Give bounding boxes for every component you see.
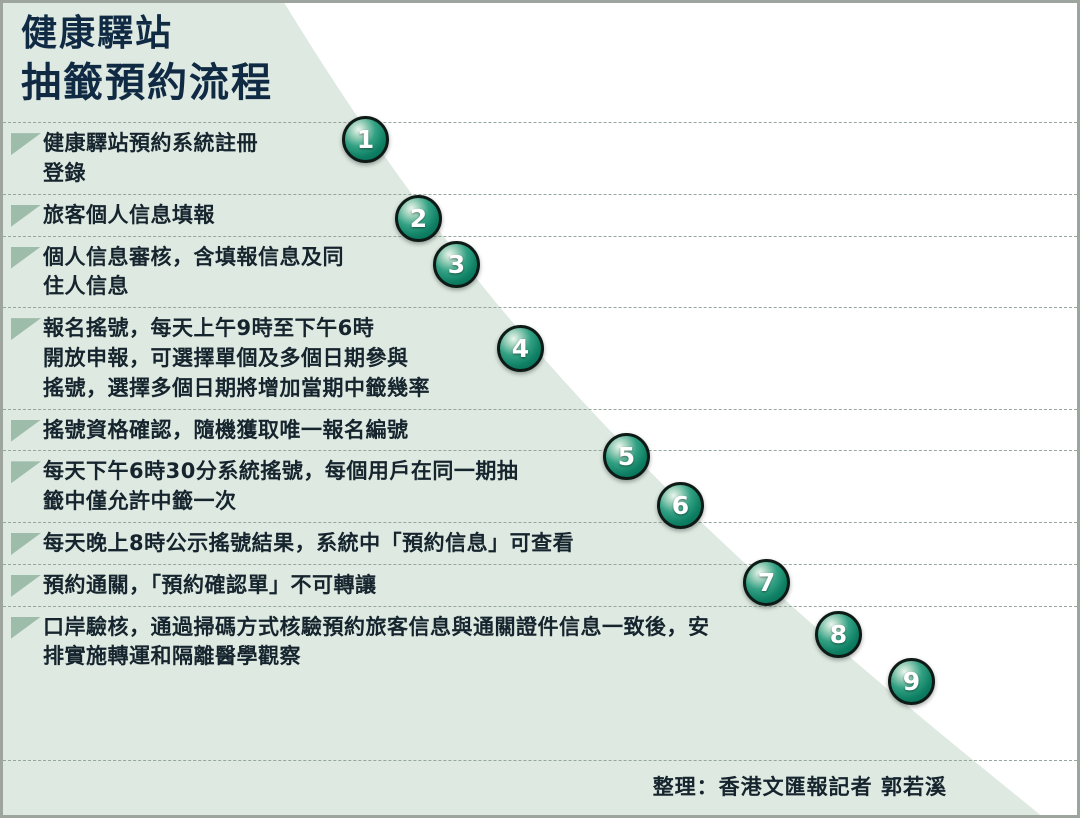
triangle-bullet-icon	[11, 420, 41, 442]
step-text-6: 每天下午6時30分系統搖號，每個用戶在同一期抽 籤中僅允許中籤一次	[43, 456, 518, 517]
step-badge-1: 1	[342, 116, 389, 163]
step-text-2: 旅客個人信息填報	[43, 200, 215, 231]
step-row-7: 每天晚上8時公示搖號結果，系統中「預約信息」可查看	[3, 522, 1077, 564]
step-badge-5: 5	[603, 433, 650, 480]
triangle-bullet-icon	[11, 133, 41, 155]
step-text-7: 每天晚上8時公示搖號結果，系統中「預約信息」可查看	[43, 528, 574, 559]
triangle-bullet-icon	[11, 533, 41, 555]
step-badge-3: 3	[433, 241, 480, 288]
title-line-2: 抽籤預約流程	[21, 61, 1077, 106]
triangle-bullet-icon	[11, 461, 41, 483]
title-line-1: 健康驛站	[21, 13, 1077, 53]
step-badge-9: 9	[888, 658, 935, 705]
triangle-bullet-icon	[11, 617, 41, 639]
poster-title: 健康驛站 抽籤預約流程	[3, 3, 1077, 110]
steps-list: 健康驛站預約系統註冊 登錄 旅客個人信息填報 個人信息審核，含填	[3, 122, 1077, 677]
step-badge-6: 6	[657, 482, 704, 529]
step-text-9: 口岸驗核，通過掃碼方式核驗預約旅客信息與通關證件信息一致後，安 排實施轉運和隔離…	[43, 612, 710, 673]
step-badge-8: 8	[815, 611, 862, 658]
step-text-1: 健康驛站預約系統註冊 登錄	[43, 128, 258, 189]
step-badge-2: 2	[395, 195, 442, 242]
step-text-5: 搖號資格確認，隨機獲取唯一報名編號	[43, 415, 409, 446]
step-row-6: 每天下午6時30分系統搖號，每個用戶在同一期抽 籤中僅允許中籤一次	[3, 450, 1077, 522]
step-badge-4: 4	[497, 325, 544, 372]
credit-line: 整理：香港文匯報記者 郭若溪	[653, 775, 947, 799]
footer: 整理：香港文匯報記者 郭若溪	[3, 760, 1077, 801]
step-row-1: 健康驛站預約系統註冊 登錄	[3, 122, 1077, 194]
triangle-bullet-icon	[11, 575, 41, 597]
step-row-2: 旅客個人信息填報	[3, 194, 1077, 236]
infographic-poster: 健康驛站 抽籤預約流程 健康驛站預約系統註冊 登錄 旅客個人信息填報	[0, 0, 1080, 818]
step-text-4: 報名搖號，每天上午9時至下午6時 開放申報，可選擇單個及多個日期參與 搖號，選擇…	[43, 313, 430, 403]
step-row-5: 搖號資格確認，隨機獲取唯一報名編號	[3, 409, 1077, 451]
step-text-8: 預約通關，「預約確認單」不可轉讓	[43, 570, 377, 601]
step-text-3: 個人信息審核，含填報信息及同 住人信息	[43, 242, 344, 303]
triangle-bullet-icon	[11, 247, 41, 269]
triangle-bullet-icon	[11, 318, 41, 340]
step-row-8: 預約通關，「預約確認單」不可轉讓	[3, 564, 1077, 606]
triangle-bullet-icon	[11, 205, 41, 227]
step-badge-7: 7	[743, 559, 790, 606]
step-row-3: 個人信息審核，含填報信息及同 住人信息	[3, 236, 1077, 308]
